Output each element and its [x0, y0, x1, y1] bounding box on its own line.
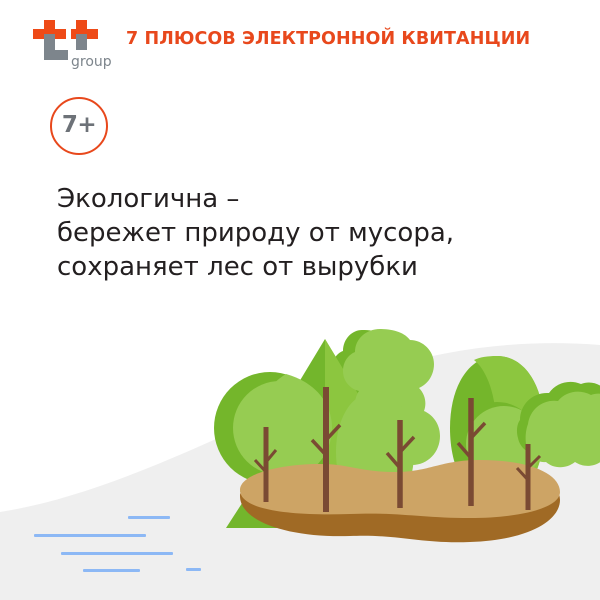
sketch-line-3 [61, 552, 173, 555]
headline-line-3: сохраняет лес от вырубки [57, 250, 537, 284]
number-badge: 7+ [50, 97, 108, 155]
headline-block: Экологична – бережет природу от мусора, … [57, 182, 537, 284]
t-plus-group-logo: group [28, 18, 124, 70]
sketch-line-4 [83, 569, 140, 572]
sketch-line-2 [34, 534, 146, 537]
badge-label: 7+ [62, 114, 96, 139]
slide-canvas: group 7 ПЛЮСОВ ЭЛЕКТРОННОЙ КВИТАНЦИИ 7+ … [0, 0, 600, 600]
sketch-line-1 [128, 516, 170, 519]
headline-line-1: Экологична – [57, 182, 537, 216]
logo-orange-marks [33, 20, 98, 39]
sketch-lines-group [0, 0, 600, 600]
header: group 7 ПЛЮСОВ ЭЛЕКТРОННОЙ КВИТАНЦИИ [0, 0, 600, 88]
headline-line-2: бережет природу от мусора, [57, 216, 537, 250]
sketch-line-5 [186, 568, 201, 571]
logo-wordmark-text: group [71, 54, 112, 70]
page-title: 7 ПЛЮСОВ ЭЛЕКТРОННОЙ КВИТАНЦИИ [126, 28, 576, 50]
